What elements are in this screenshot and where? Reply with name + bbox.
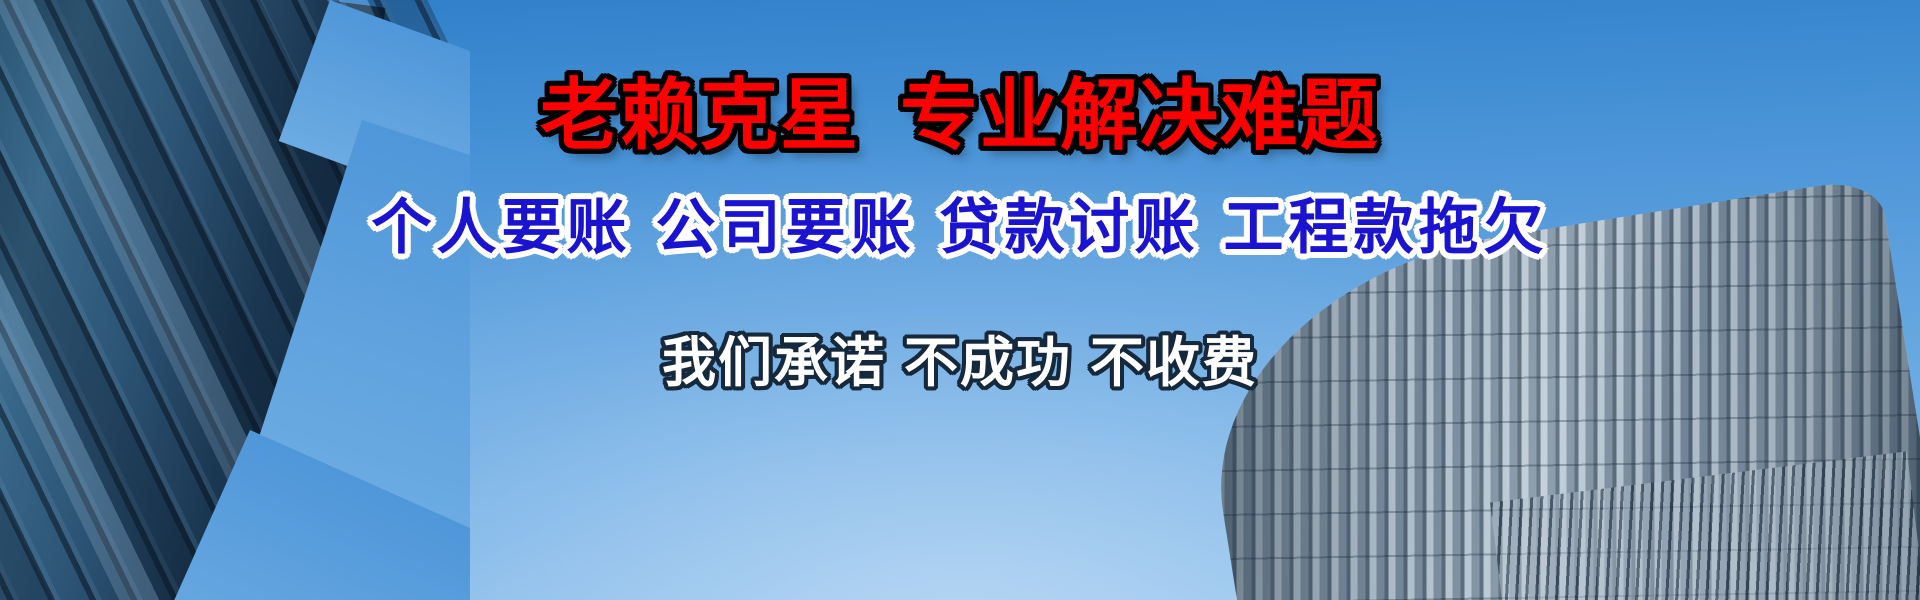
banner-services-line: 个人要账公司要账贷款讨账工程款拖欠	[372, 198, 1549, 258]
tagline-part-2: 不成功	[904, 333, 1072, 393]
promotional-banner: 老赖克星专业解决难题 个人要账公司要账贷款讨账工程款拖欠 我们承诺不成功不收费	[0, 0, 1920, 600]
tagline-part-1: 我们承诺	[662, 333, 886, 393]
banner-tagline: 我们承诺不成功不收费	[662, 336, 1258, 390]
service-item-3: 贷款讨账	[940, 194, 1200, 261]
service-item-1: 个人要账	[372, 194, 632, 261]
banner-text-block: 老赖克星专业解决难题 个人要账公司要账贷款讨账工程款拖欠 我们承诺不成功不收费	[0, 0, 1920, 600]
tagline-part-3: 不收费	[1090, 333, 1258, 393]
banner-headline: 老赖克星专业解决难题	[540, 76, 1380, 154]
headline-part-1: 老赖克星	[540, 71, 860, 159]
service-item-4: 工程款拖欠	[1224, 194, 1549, 261]
headline-part-2: 专业解决难题	[900, 71, 1380, 159]
service-item-2: 公司要账	[656, 194, 916, 261]
